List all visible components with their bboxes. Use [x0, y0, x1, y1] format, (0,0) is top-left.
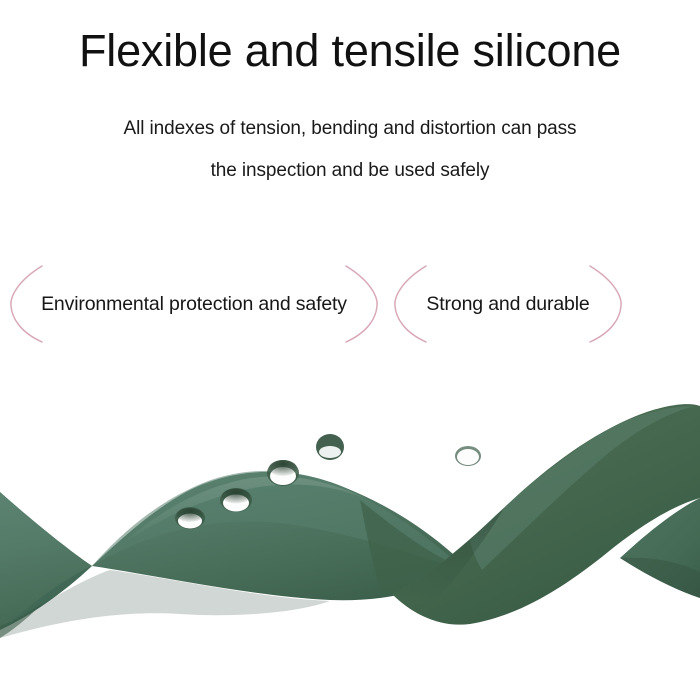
feature-badge-environmental: Environmental protection and safety	[8, 262, 380, 346]
feature-badge-row: Environmental protection and safety Stro…	[0, 262, 700, 346]
page-title: Flexible and tensile silicone	[0, 22, 700, 80]
silicone-band-illustration	[0, 380, 700, 700]
subtitle-block: All indexes of tension, bending and dist…	[0, 108, 700, 192]
feature-badge-label: Strong and durable	[426, 262, 589, 346]
subtitle-line-1: All indexes of tension, bending and dist…	[0, 108, 700, 150]
product-image-silicone-band	[0, 380, 700, 700]
bracket-arc-left-icon	[386, 264, 432, 344]
product-feature-banner: Flexible and tensile silicone All indexe…	[0, 0, 700, 700]
bracket-arc-right-icon	[584, 264, 630, 344]
feature-badge-label: Environmental protection and safety	[41, 262, 347, 346]
subtitle-line-2: the inspection and be used safely	[0, 150, 700, 192]
feature-badge-durable: Strong and durable	[392, 262, 624, 346]
